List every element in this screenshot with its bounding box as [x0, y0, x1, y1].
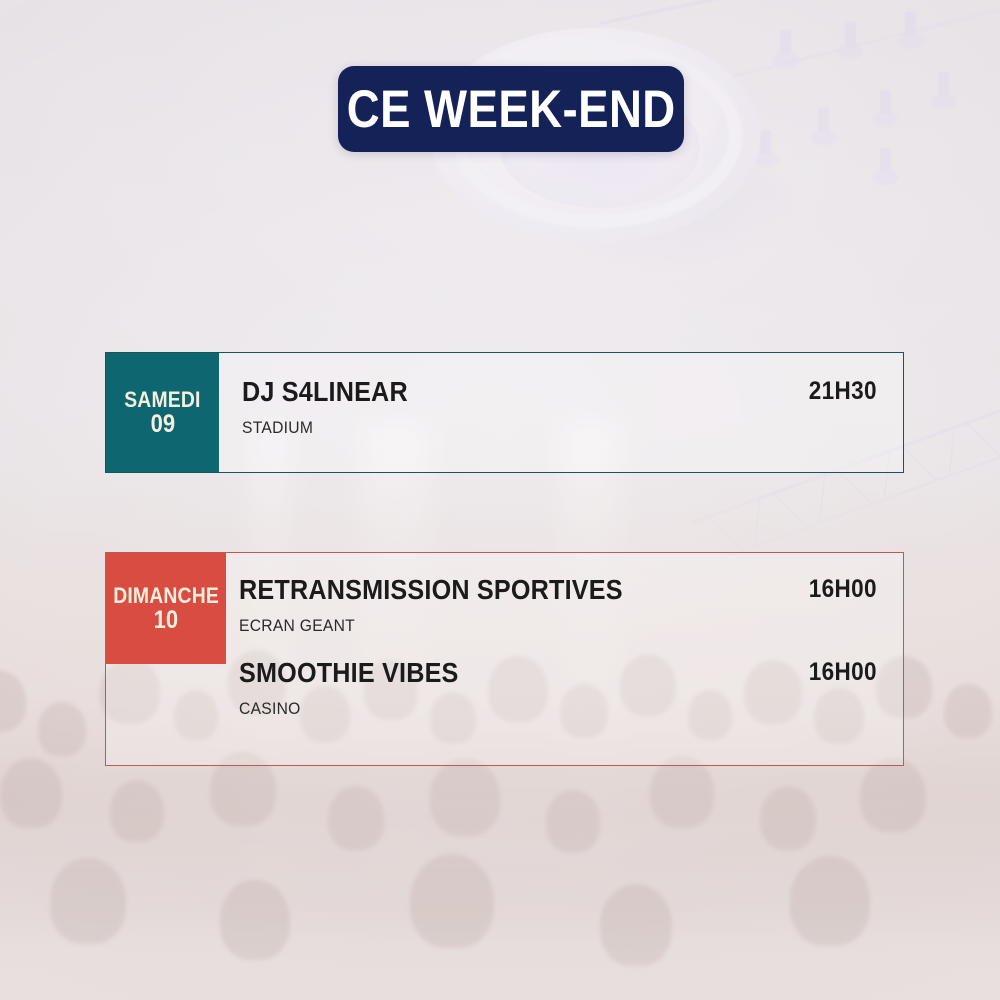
event-row[interactable]: SMOOTHIE VIBES CASINO 16H00: [239, 658, 881, 719]
event-info: RETRANSMISSION SPORTIVES ECRAN GEANT: [239, 575, 665, 636]
day-name-label: SAMEDI: [124, 388, 200, 411]
event-title: DJ S4LINEAR: [242, 377, 408, 407]
event-venue: STADIUM: [242, 418, 412, 438]
day-chip-sunday: DIMANCHE 10: [106, 553, 226, 664]
page-title: CE WEEK-END: [347, 83, 676, 136]
event-row[interactable]: RETRANSMISSION SPORTIVES ECRAN GEANT 16H…: [239, 575, 881, 636]
event-title: SMOOTHIE VIBES: [239, 658, 459, 688]
day-number-label: 10: [154, 607, 178, 634]
event-info: DJ S4LINEAR STADIUM: [242, 377, 426, 438]
event-title: RETRANSMISSION SPORTIVES: [239, 575, 623, 605]
day-card-saturday[interactable]: SAMEDI 09 DJ S4LINEAR STADIUM 21H30: [105, 352, 904, 473]
day-chip-saturday: SAMEDI 09: [106, 353, 219, 472]
event-venue: CASINO: [239, 699, 463, 719]
event-info: SMOOTHIE VIBES CASINO: [239, 658, 483, 719]
weekend-event-poster: CE WEEK-END SAMEDI 09 DJ S4LINEAR STADIU…: [0, 0, 1000, 1000]
day-card-sunday[interactable]: DIMANCHE 10 RETRANSMISSION SPORTIVES ECR…: [105, 552, 904, 766]
event-time: 16H00: [809, 658, 877, 687]
event-row[interactable]: DJ S4LINEAR STADIUM 21H30: [242, 377, 881, 438]
day-card-body-saturday: DJ S4LINEAR STADIUM 21H30: [219, 353, 903, 472]
day-number-label: 09: [150, 411, 174, 438]
event-time: 16H00: [809, 575, 877, 604]
event-time: 21H30: [809, 377, 877, 406]
day-name-label: DIMANCHE: [113, 584, 219, 607]
poster-content: CE WEEK-END SAMEDI 09 DJ S4LINEAR STADIU…: [0, 0, 1000, 1000]
day-card-body-sunday: RETRANSMISSION SPORTIVES ECRAN GEANT 16H…: [226, 553, 903, 765]
page-title-banner: CE WEEK-END: [338, 66, 684, 152]
event-venue: ECRAN GEANT: [239, 616, 631, 636]
